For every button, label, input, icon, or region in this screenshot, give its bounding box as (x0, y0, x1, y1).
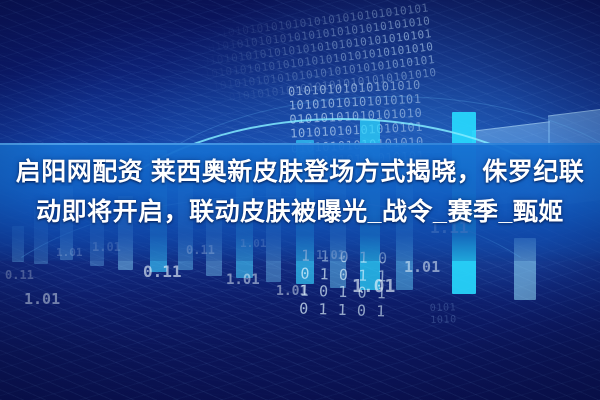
article-banner-image: 010101010101010101010101010101010101 101… (0, 0, 600, 400)
headline-line-1: 启阳网配资 莱西奥新皮肤登场方式揭晓，侏罗纪联 (0, 152, 600, 192)
headline-line-2: 动即将开启，联动皮肤被曝光_战令_赛季_甄姬 (0, 192, 600, 232)
headline: 启阳网配资 莱西奥新皮肤登场方式揭晓，侏罗纪联 动即将开启，联动皮肤被曝光_战令… (0, 152, 600, 232)
